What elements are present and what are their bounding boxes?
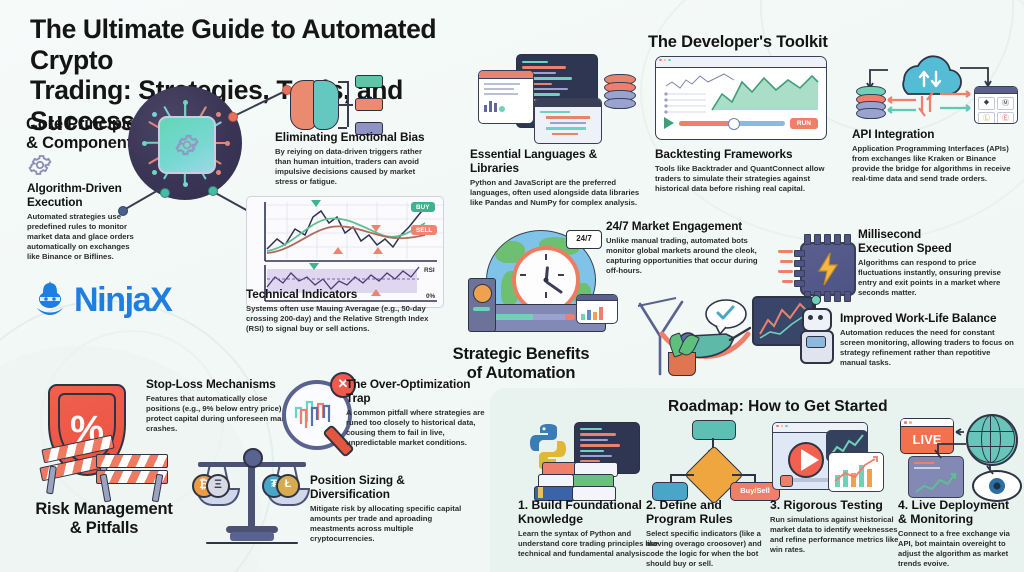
block-title-line1: Millisecond [858,228,1018,242]
connector-line [338,127,347,129]
testing-playback-icon [772,418,892,494]
block-api-integration: API Integration Application Programming … [852,128,1018,184]
brain-icon [290,78,338,130]
infographic-canvas: The Ultimate Guide to Automated Crypto T… [0,0,1024,572]
block-title-line1: Position Sizing & [310,474,468,488]
python-books-icon [522,420,652,492]
step-title-line2: & Monitoring [898,512,1022,526]
block-title-line2: Execution [27,196,139,210]
output-bar-orange [355,98,383,111]
connector-line [338,104,353,106]
buy-tag: BUY [411,202,435,212]
block-title: Essential Languages & Libraries [470,148,642,176]
block-title: 24/7 Market Engagement [606,220,770,234]
step-title-line2: Program Rules [646,512,772,526]
block-execution-speed: Millisecond Execution Speed Algorithms c… [858,228,1018,298]
live-badge: LIVE [900,418,954,454]
step-body: Learn the syntax of Python and understan… [518,529,660,559]
robot-icon [798,308,832,366]
badge-247: 24/7 [566,230,602,249]
cloud-exchange-icon: ◆ Ⓜ Ⓛ Ⓔ [848,52,1018,124]
risk-heading-line1: Risk Management [24,500,184,519]
signal-marker-down [309,263,319,270]
connector-node [160,188,170,198]
clock-tower-icon [468,278,496,332]
block-title-line2: Execution Speed [858,242,1018,256]
block-work-life-balance: Improved Work-Life Balance Automation re… [840,312,1018,368]
connector-line [347,81,349,104]
block-position-sizing: Position Sizing & Diversification Mitiga… [310,474,468,544]
block-market-engagement: 24/7 Market Engagement Unlike manual tra… [606,220,770,276]
block-title: Stop-Loss Mechanisms [146,378,296,392]
live-deployment-icon: LIVE [900,414,1020,494]
scrub-handle[interactable] [780,475,793,487]
database-icon [604,74,634,116]
block-title-line1: The Over-Optimization [346,378,492,392]
block-body: Mitigate risk by allocating specific cap… [310,504,468,544]
code-editor-icon [478,54,648,144]
roadmap-step-4: 4. Live Deployment & Monitoring Connect … [898,498,1022,569]
sell-tag: SELL [411,225,437,235]
brand-logo: NinjaX [30,280,171,320]
cpu-gear-hub-icon [128,86,242,200]
block-body: Systems often use Mauing Averagae (e.g.,… [246,304,442,334]
chip-icon [158,116,216,174]
page-title-line1: The Ultimate Guide to Automated Crypto [30,14,460,75]
step-body: Select specific indicators (like a movin… [646,529,772,569]
roadmap-step-1: 1. Build Foundational Knowledge Learn th… [518,498,660,559]
step-title-line1: 2. Define and [646,498,772,512]
ninja-mask-icon [30,280,70,320]
block-stop-loss: Stop-Loss Mechanisms Features that autom… [146,378,296,434]
block-body: Unlike manual trading, automated bots mo… [606,236,770,276]
block-body: Python and JavaScript are the preferred … [470,178,642,208]
connector-node [228,112,238,122]
benefits-heading-line1: Strategic Benefits [436,345,606,364]
block-title-line1: Algorithm-Driven [27,182,139,196]
step-body: Connect to a free exchange via API, bot … [898,529,1022,569]
developer-toolkit-heading: The Developer's Toolkit [648,33,828,52]
plant-icon [668,352,696,376]
block-body: Features that automatically close positi… [146,394,296,434]
hammock-icon [630,290,830,380]
block-title: Improved Work-Life Balance [840,312,1018,326]
connector-line [338,81,347,83]
block-body: Tools like Backtrader and QuantConnect a… [655,164,835,194]
step-title-line2: Knowledge [518,512,660,526]
block-body: Algorithms can respond to price fluctuat… [858,258,1018,298]
signal-marker-up [373,247,383,254]
signal-marker-down [371,225,381,232]
block-backtesting: Backtesting Frameworks Tools like Backtr… [655,148,835,194]
connector-node [208,186,218,196]
globe-icon [966,414,1018,466]
block-body: A common pitfall where strategies are ru… [346,408,492,448]
output-bar-green [355,75,383,88]
barrier-icon [96,452,172,506]
block-technical-indicators: Technical Indicators Systems often use M… [246,288,442,334]
backtest-player-icon: RUN [655,56,827,140]
block-body: Automation reduces the need for constant… [840,328,1018,368]
signal-marker-down [311,200,321,207]
step-title-line1: 4. Live Deployment [898,498,1022,512]
run-button[interactable]: RUN [790,118,818,129]
play-icon[interactable] [664,117,674,129]
timeline-slider[interactable] [679,121,785,126]
block-title: Eliminating Emotional Bias [275,131,433,145]
coin-ltc: Ł [276,474,300,498]
block-title-line2: Trap [346,392,492,406]
step-body: Run simulations against historical marke… [770,515,900,555]
signal-marker-up [333,247,343,254]
exchange-window-icon: ◆ Ⓜ Ⓛ Ⓔ [974,86,1018,124]
gear-icon [27,152,53,178]
block-title: Backtesting Frameworks [655,148,835,162]
flowchart-icon: Buy/Sell [650,420,770,492]
mini-chart-window [576,294,618,324]
live-label: LIVE [901,427,953,452]
block-essential-languages: Essential Languages & Libraries Python a… [470,148,642,208]
step-title-line1: 3. Rigorous Testing [770,498,900,512]
database-icon [856,86,884,124]
step-title-line1: 1. Build Foundational [518,498,660,512]
tablet-icon [908,456,964,498]
block-over-optimization: The Over-Optimization Trap A common pitf… [346,378,492,448]
block-title: API Integration [852,128,1018,142]
block-title: Technical Indicators [246,288,442,302]
connector-line [212,190,251,213]
roadmap-heading: Roadmap: How to Get Started [668,398,888,416]
globe-clock-icon: 24/7 [468,228,618,346]
block-title-line2: Diversification [310,488,468,502]
block-algorithm-driven-execution: Algorithm-Driven Execution Automated str… [27,182,139,262]
risk-management-heading: Risk Management & Pitfalls [24,500,184,538]
play-icon[interactable] [788,442,824,478]
block-eliminating-emotional-bias: Eliminating Emotional Bias By reiying on… [275,131,433,187]
coin-eth: Ξ [206,474,230,498]
block-body: Automated strategies use predefined rule… [27,212,139,262]
brand-name: NinjaX [74,281,171,320]
connector-line [347,104,349,127]
roadmap-step-2: 2. Define and Program Rules Select speci… [646,498,772,569]
rsi-label: RSI [419,265,440,275]
balance-scale-icon: ₿ Ξ ₮ Ł [186,438,318,546]
gear-icon [174,132,200,158]
roadmap-step-3: 3. Rigorous Testing Run simulations agai… [770,498,900,555]
block-body: Application Programming Interfaces (APIs… [852,144,1018,184]
block-body: By reiying on data-driven triggers rathe… [275,147,433,187]
risk-heading-line2: & Pitfalls [24,519,184,538]
